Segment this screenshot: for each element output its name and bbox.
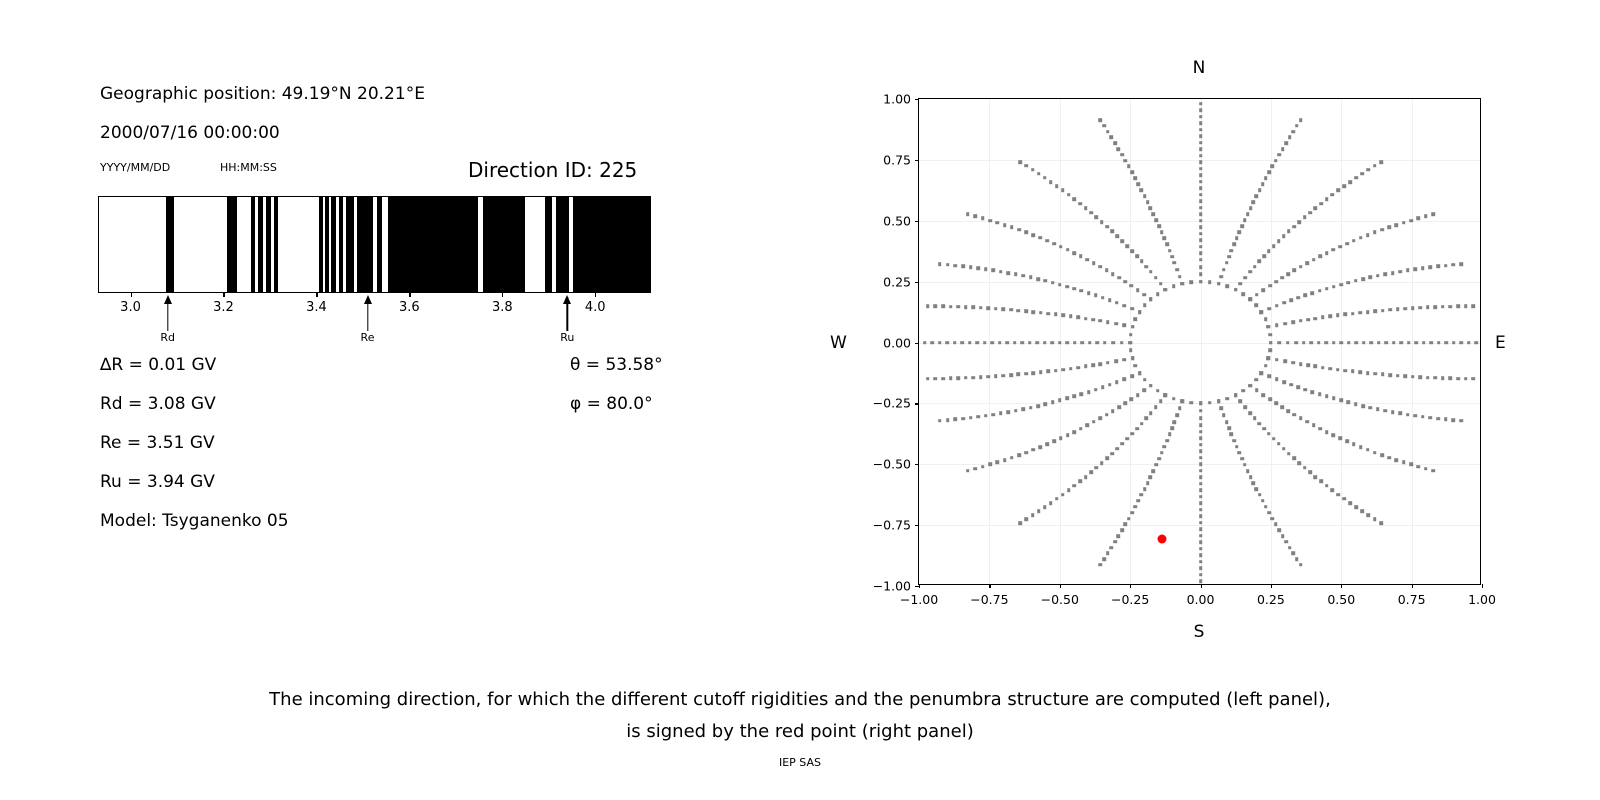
penumbra-forbidden-band [258,197,263,292]
scatter-dot [1332,341,1336,345]
scatter-dot [1242,292,1246,296]
scatter-dot [1262,288,1266,292]
scatter-dot [1058,399,1062,403]
scatter-dot [1366,233,1370,237]
scatter-dot [1031,448,1035,452]
scatter-dot [1110,230,1114,234]
scatter-dot [1421,415,1425,419]
scatter-dot [1088,341,1092,345]
scatter-dot [1120,341,1124,345]
scatter-dot [1255,487,1259,491]
penumbra-forbidden-band [251,197,255,292]
scatter-dot [1258,493,1262,497]
scatter-dot [1274,159,1278,163]
scatter-dot [1411,375,1415,379]
stat-theta: θ = 53.58° [570,355,663,375]
scatter-dot [1311,291,1315,295]
scatter-dot [961,265,965,269]
scatter-dot [1434,305,1438,309]
scatter-dot [1283,360,1287,364]
scatter-dot [1424,467,1428,471]
scatter-dot [1199,416,1203,420]
scatter-dot [1055,184,1059,188]
scatter-dot [1297,220,1301,224]
scatter-dot [1110,452,1114,456]
scatter-dot [1136,393,1140,397]
scatter-dot [1267,325,1271,329]
scatter-dot [1379,521,1383,525]
scatter-dot [1080,341,1084,345]
scatter-dot [1199,122,1203,126]
scatter-dot [1234,288,1238,292]
scatter-dot [1047,370,1051,374]
scatter-dot [1199,161,1203,165]
scatter-dot [1172,397,1176,401]
scatter-dot [1354,505,1358,509]
scatter-dot [1054,369,1058,373]
scatter-dot [1031,513,1035,517]
scatter-dot [996,221,1000,225]
scatter-dot [1342,497,1346,501]
scatter-dot [1429,265,1433,269]
scatter-dot [946,263,950,267]
scatter-dot [1002,374,1006,378]
scatter-dot [1314,365,1318,369]
scatter-dot [1199,109,1203,113]
scatter-dot [1255,194,1259,198]
scatter-dot [1116,447,1120,451]
scatter-dot [987,306,991,310]
scatter-dot [1159,282,1163,286]
scatter-dot [1388,308,1392,312]
scatter-dot [1358,311,1362,315]
axis-tick-label: 3.2 [213,300,234,315]
scatter-dot [1417,465,1421,469]
x-axis-tick-label: 0.75 [1398,592,1426,607]
y-axis-tick-label: 0.25 [883,274,911,289]
scatter-dot [1143,194,1147,198]
scatter-dot [1106,320,1110,324]
scatter-dot [1268,349,1272,353]
scatter-dot [1120,153,1124,157]
compass-label-south: S [1194,622,1205,642]
scatter-dot [1018,521,1022,525]
scatter-dot [1391,271,1395,275]
scatter-dot [1086,424,1090,428]
compass-label-west: W [830,333,847,353]
scatter-dot [1061,368,1065,372]
scatter-dot [1351,370,1355,374]
scatter-dot [1084,475,1088,479]
scatter-dot [1130,249,1134,253]
penumbra-forbidden-band [319,197,323,292]
scatter-dot [1249,206,1253,210]
scatter-dot [1299,417,1303,421]
scatter-dot [1396,374,1400,378]
scatter-dot [1007,271,1011,275]
scatter-dot [1099,563,1103,567]
scatter-dot [1437,341,1441,345]
scatter-dot [949,377,953,381]
scatter-dot [1199,245,1203,249]
arrow-head-icon [364,295,372,304]
scatter-dot [1444,264,1448,268]
scatter-dot [976,415,980,419]
scatter-dot [1164,393,1168,397]
scatter-dot [1129,398,1133,402]
scatter-dot [1065,341,1069,345]
left-panel: Geographic position: 49.19°N 20.21°E 200… [0,0,800,660]
penumbra-forbidden-band [166,197,174,292]
scatter-dot [1199,508,1203,512]
scatter-dot [1328,367,1332,371]
scatter-dot [1165,243,1169,247]
scatter-dot [1154,276,1158,280]
scatter-dot [1267,171,1271,175]
scatter-dot [1418,375,1422,379]
scatter-dot [1199,547,1203,551]
scatter-dot [1281,534,1285,538]
scatter-dot [1099,319,1103,323]
penumbra-forbidden-band [573,197,651,292]
scatter-dot [1415,341,1419,345]
x-axis-tick-label: −0.75 [970,592,1008,607]
caption-line-1: The incoming direction, for which the di… [0,684,1600,716]
scatter-dot [983,341,987,345]
scatter-dot [992,269,996,273]
scatter-dot [1283,322,1287,326]
scatter-dot [1377,341,1381,345]
scatter-dot [1113,141,1117,145]
scatter-dot [969,416,973,420]
scatter-dot [1431,469,1435,473]
scatter-dot [1361,404,1365,408]
scatter-dot [1108,298,1112,302]
scatter-dot [1076,316,1080,320]
scatter-dot [1072,287,1076,291]
scatter-dot [1255,378,1259,382]
scatter-dot [1079,254,1083,258]
scatter-dot [1369,341,1373,345]
scatter-dot [1199,423,1203,427]
scatter-dot [1376,407,1380,411]
scatter-dot [1199,135,1203,139]
scatter-dot [1286,272,1290,276]
scatter-dot [1024,372,1028,376]
scatter-dot [1369,276,1373,280]
scatter-dot [1121,239,1125,243]
scatter-dot [1127,517,1131,521]
scatter-dot [1143,304,1147,308]
scatter-dot [1354,341,1358,345]
scatter-dot [1199,560,1203,564]
scatter-dot [1098,265,1102,269]
scatter-dot [1380,453,1384,457]
scatter-dot [1058,283,1062,287]
direction-id-text: Direction ID: 225 [468,158,637,182]
scatter-dot [1295,124,1299,128]
scatter-dot [1199,482,1203,486]
scatter-dot [1392,341,1396,345]
scatter-dot [1332,285,1336,289]
scatter-dot [1124,159,1128,163]
scatter-dot [966,213,970,217]
scatter-dot [1160,230,1164,234]
scatter-dot [1282,235,1286,239]
scatter-dot [1157,457,1161,461]
scatter-dot [1199,273,1203,277]
scatter-dot [1149,475,1153,479]
scatter-dot [1246,469,1250,473]
scatter-dot [1149,298,1153,302]
scatter-dot [992,413,996,417]
scatter-dot [1294,341,1298,345]
scatter-dot [949,305,953,309]
scatter-dot [1338,437,1342,441]
scatter-dot [1436,417,1440,421]
scatter-dot [1113,540,1117,544]
scatter-dot [1452,263,1456,267]
scatter-dot [1137,182,1141,186]
scatter-dot [1020,341,1024,345]
scatter-dot [1149,411,1153,415]
scatter-dot [1199,173,1203,177]
scatter-dot [1234,393,1238,397]
scatter-dot [1117,276,1121,280]
scatter-dot [1154,218,1158,222]
scatter-dot [1037,509,1041,513]
scatter-dot [1248,270,1252,274]
scatter-dot [960,341,964,345]
stat-rd: Rd = 3.08 GV [100,394,216,414]
penumbra-forbidden-band [556,197,569,292]
scatter-dot [1318,254,1322,258]
scatter-dot [1262,427,1266,431]
scatter-dot [1290,383,1294,387]
scatter-dot [1272,437,1276,441]
scatter-dot [1079,427,1083,431]
scatter-dot [1383,273,1387,277]
scatter-dot [1130,432,1134,436]
scatter-dot [1302,341,1306,345]
scatter-dot [1017,373,1021,377]
scatter-dot [938,341,942,345]
scatter-dot [1332,397,1336,401]
scatter-dot [923,341,927,345]
scatter-dot [1227,427,1231,431]
scatter-dot [1288,136,1292,140]
y-axis-tick [915,160,919,161]
scatter-dot [934,305,938,309]
scatter-dot [1258,188,1262,192]
scatter-dot [1398,270,1402,274]
scatter-dot [1388,373,1392,377]
scatter-dot [1429,416,1433,420]
scatter-dot [1168,433,1172,437]
scatter-dot [1091,363,1095,367]
scatter-dot [1324,341,1328,345]
caption-line-2: is signed by the red point (right panel) [0,716,1600,748]
footer-credit: IEP SAS [0,756,1600,769]
scatter-dot [1072,251,1076,255]
scatter-dot [1373,517,1377,521]
y-axis-tick-label: 1.00 [883,92,911,107]
scatter-dot [1417,217,1421,221]
scatter-dot [1262,393,1266,397]
scatter-dot [1199,449,1203,453]
scatter-dot [1045,442,1049,446]
scatter-dot [1217,282,1221,286]
scatter-dot [1152,469,1156,473]
scatter-dot [1178,275,1182,279]
scatter-dot [1123,402,1127,406]
scatter-dot [1261,499,1265,503]
scatter-dot [1373,372,1377,376]
scatter-dot [1431,213,1435,217]
geographic-position-text: Geographic position: 49.19°N 20.21°E [100,84,425,104]
scatter-dot [1199,265,1203,269]
scatter-dot [1157,224,1161,228]
scatter-dot [1230,433,1234,437]
scatter-dot [1127,165,1131,169]
scatter-dot [1133,176,1137,180]
scatter-dot [1264,317,1268,321]
penumbra-forbidden-band [325,197,329,292]
scatter-dot [1248,411,1252,415]
axis-tick [502,293,503,297]
scatter-dot [1106,130,1110,134]
scatter-dot [1124,523,1128,527]
scatter-dot [1078,480,1082,484]
x-axis-tick-label: 0.00 [1187,592,1215,607]
scatter-dot [1199,534,1203,538]
scatter-dot [1108,383,1112,387]
y-axis-tick [915,403,919,404]
scatter-dot [1336,314,1340,318]
scatter-dot [1449,305,1453,309]
scatter-dot [1164,288,1168,292]
time-format-hint: HH:MM:SS [220,161,277,174]
scatter-dot [1199,238,1203,242]
scatter-dot [1061,493,1065,497]
scatter-dot [1131,356,1135,360]
scatter-dot [1117,405,1121,409]
scatter-dot [1009,373,1013,377]
scatter-dot [1036,404,1040,408]
scatter-dot [968,341,972,345]
scatter-dot [1173,261,1177,265]
scatter-dot [1354,176,1358,180]
scatter-dot [1449,377,1453,381]
scatter-dot [1291,552,1295,556]
scatter-dot [1199,540,1203,544]
scatter-dot [1100,220,1104,224]
scatter-dot [1325,484,1329,488]
scatter-dot [1003,458,1007,462]
scatter-dot [1095,466,1099,470]
selected-direction-point[interactable] [1158,534,1167,543]
scatter-dot [964,376,968,380]
scatter-dot [1072,430,1076,434]
scatter-dot [990,341,994,345]
scatter-dot [1426,306,1430,310]
scatter-dot [1249,475,1253,479]
scatter-dot [1143,378,1147,382]
scatter-dot [1360,509,1364,513]
scatter-dot [1078,202,1082,206]
scatter-dot [1264,176,1268,180]
scatter-dot [1275,358,1279,362]
scatter-dot [1306,318,1310,322]
scatter-dot [1424,215,1428,219]
scatter-dot [1352,239,1356,243]
scatter-dot [1084,317,1088,321]
scatter-dot [1013,341,1017,345]
scatter-dot [1413,414,1417,418]
scatter-dot [926,377,930,381]
scatter-dot [1430,341,1434,345]
stat-phi: φ = 80.0° [570,394,653,414]
scatter-dot [1043,176,1047,180]
right-panel: N S W E −1.00−0.75−0.50−0.250.000.250.50… [800,0,1600,660]
scatter-dot [1237,230,1241,234]
scatter-dot [1014,273,1018,277]
scatter-dot [961,417,965,421]
axis-tick [595,293,596,297]
x-axis-tick-label: −0.50 [1041,592,1079,607]
scatter-dot [1252,200,1256,204]
scatter-dot [1025,164,1029,168]
scatter-dot [1130,511,1134,515]
cutoff-marker-label: Ru [560,331,574,344]
scatter-dot [1131,325,1135,329]
x-axis-tick-label: −0.25 [1111,592,1149,607]
scatter-dot [1314,206,1318,210]
scatter-dot [1144,265,1148,269]
penumbra-forbidden-band [227,197,238,292]
scatter-dot [1087,390,1091,394]
scatter-dot [1317,341,1321,345]
scatter-dot [1128,341,1132,345]
scatter-dot [1267,307,1271,311]
scatter-dot [1199,469,1203,473]
stat-ru: Ru = 3.94 GV [100,472,215,492]
scatter-dot [1303,466,1307,470]
scatter-dot [1308,211,1312,215]
scatter-dot [1291,361,1295,365]
scatter-dot [1199,154,1203,158]
scatter-dot [1149,206,1153,210]
penumbra-bar-chart [98,196,651,293]
scatter-dot [1199,199,1203,203]
scatter-dot [1199,280,1203,284]
scatter-dot [1029,276,1033,280]
scatter-dot [1402,221,1406,225]
scatter-dot [1061,189,1065,193]
scatter-dot [941,305,945,309]
scatter-dot [1029,406,1033,410]
scatter-dot [1311,390,1315,394]
scatter-dot [988,463,992,467]
scatter-dot [1021,274,1025,278]
scatter-dot [1017,309,1021,313]
stat-delta-r: ∆R = 0.01 GV [100,355,216,375]
x-axis-tick [1060,584,1061,588]
scatter-dot [1135,427,1139,431]
penumbra-rigidity-axis: 3.03.23.43.63.84.0RdReRu [98,293,651,353]
scatter-dot [1391,410,1395,414]
penumbra-forbidden-band [545,197,552,292]
